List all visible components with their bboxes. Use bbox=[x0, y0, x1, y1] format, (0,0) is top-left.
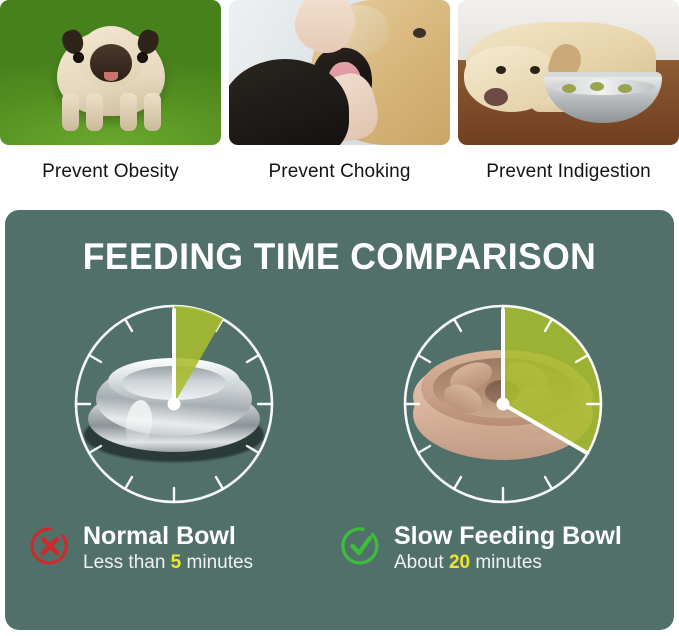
infographic-page: Prevent Obesity Prevent Choking bbox=[0, 0, 679, 636]
legend-normal-bowl: Normal Bowl Less than 5 minutes bbox=[30, 522, 253, 576]
normal-bowl-clock-overlay bbox=[68, 298, 280, 510]
legend-title-slow-bowl: Slow Feeding Bowl bbox=[394, 522, 622, 550]
benefits-strip: Prevent Obesity Prevent Choking bbox=[0, 0, 679, 183]
feeding-time-comparison-panel: FEEDING TIME COMPARISON bbox=[5, 210, 674, 630]
benefit-card-indigestion: Prevent Indigestion bbox=[458, 0, 679, 183]
legend-sub-normal-bowl: Less than 5 minutes bbox=[83, 551, 253, 576]
page-title: FEEDING TIME COMPARISON bbox=[18, 236, 660, 278]
legend-title-normal-bowl: Normal Bowl bbox=[83, 522, 253, 550]
slow-bowl-clock-overlay bbox=[397, 298, 609, 510]
benefit-card-obesity: Prevent Obesity bbox=[0, 0, 221, 183]
dials-row bbox=[5, 298, 674, 510]
normal-bowl-dial bbox=[68, 298, 280, 510]
slow-feeding-bowl-dial bbox=[397, 298, 609, 510]
legend-sub-prefix-normal: Less than bbox=[83, 552, 171, 573]
legend-minutes-slow: 20 bbox=[449, 552, 470, 573]
photo-lab-with-bowl bbox=[458, 0, 679, 145]
legend-row: Normal Bowl Less than 5 minutes Slow Fee… bbox=[5, 522, 674, 602]
clock-center-slow bbox=[497, 398, 510, 411]
benefit-label-choking: Prevent Choking bbox=[269, 161, 411, 183]
check-circle-icon bbox=[341, 526, 381, 566]
legend-minutes-normal: 5 bbox=[171, 552, 182, 573]
legend-sub-suffix-slow: minutes bbox=[470, 552, 542, 573]
benefit-label-obesity: Prevent Obesity bbox=[42, 161, 179, 183]
legend-sub-suffix-normal: minutes bbox=[181, 552, 253, 573]
benefit-label-indigestion: Prevent Indigestion bbox=[486, 161, 651, 183]
photo-vet-checking-mouth bbox=[229, 0, 450, 145]
legend-sub-slow-bowl: About 20 minutes bbox=[394, 551, 622, 576]
x-circle-icon bbox=[30, 526, 70, 566]
benefit-card-choking: Prevent Choking bbox=[229, 0, 450, 183]
photo-overweight-pug bbox=[0, 0, 221, 145]
legend-sub-prefix-slow: About bbox=[394, 552, 449, 573]
legend-slow-feeding-bowl: Slow Feeding Bowl About 20 minutes bbox=[341, 522, 622, 576]
elapsed-wedge-normal bbox=[174, 306, 223, 404]
clock-center-normal bbox=[168, 398, 181, 411]
